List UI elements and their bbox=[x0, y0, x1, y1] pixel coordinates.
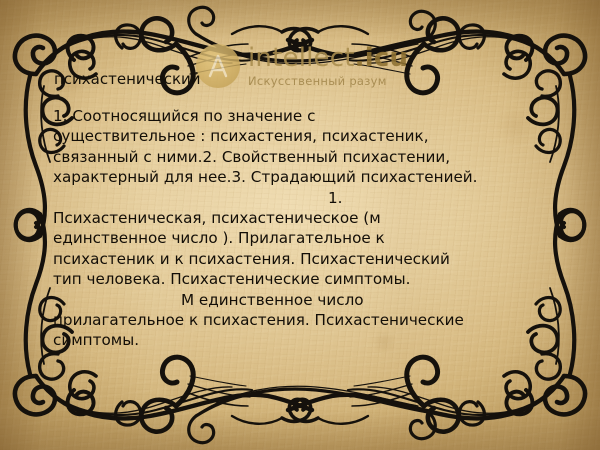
definition-line: характерный для нее.3. Страдающий психас… bbox=[53, 167, 553, 187]
definition-line: симптомы. bbox=[53, 330, 553, 350]
definition-line: прилагательное к психастения. Психастени… bbox=[53, 310, 553, 330]
definition-line: психастеник и к психастения. Психастенич… bbox=[53, 249, 553, 269]
definition-line: существительное : психастения, психастен… bbox=[53, 126, 553, 146]
page-title: психастенический bbox=[54, 70, 201, 88]
sense-marker: М единственное число bbox=[53, 290, 553, 310]
definition-line: Психастеническая, психастеническое (м bbox=[53, 208, 553, 228]
definition-line: тип человека. Психастенические симптомы. bbox=[53, 269, 553, 289]
definition-line: 1. Соотносящийся по значение с bbox=[53, 106, 553, 126]
parchment-page: intellect.icu Искусственный разум психас… bbox=[0, 0, 600, 450]
definition-line: единственное число ). Прилагательное к bbox=[53, 228, 553, 248]
definition-line: связанный с ними.2. Свойственный психаст… bbox=[53, 147, 553, 167]
definition-body: 1. Соотносящийся по значение с существит… bbox=[53, 106, 553, 351]
sense-marker: 1. bbox=[53, 188, 553, 208]
